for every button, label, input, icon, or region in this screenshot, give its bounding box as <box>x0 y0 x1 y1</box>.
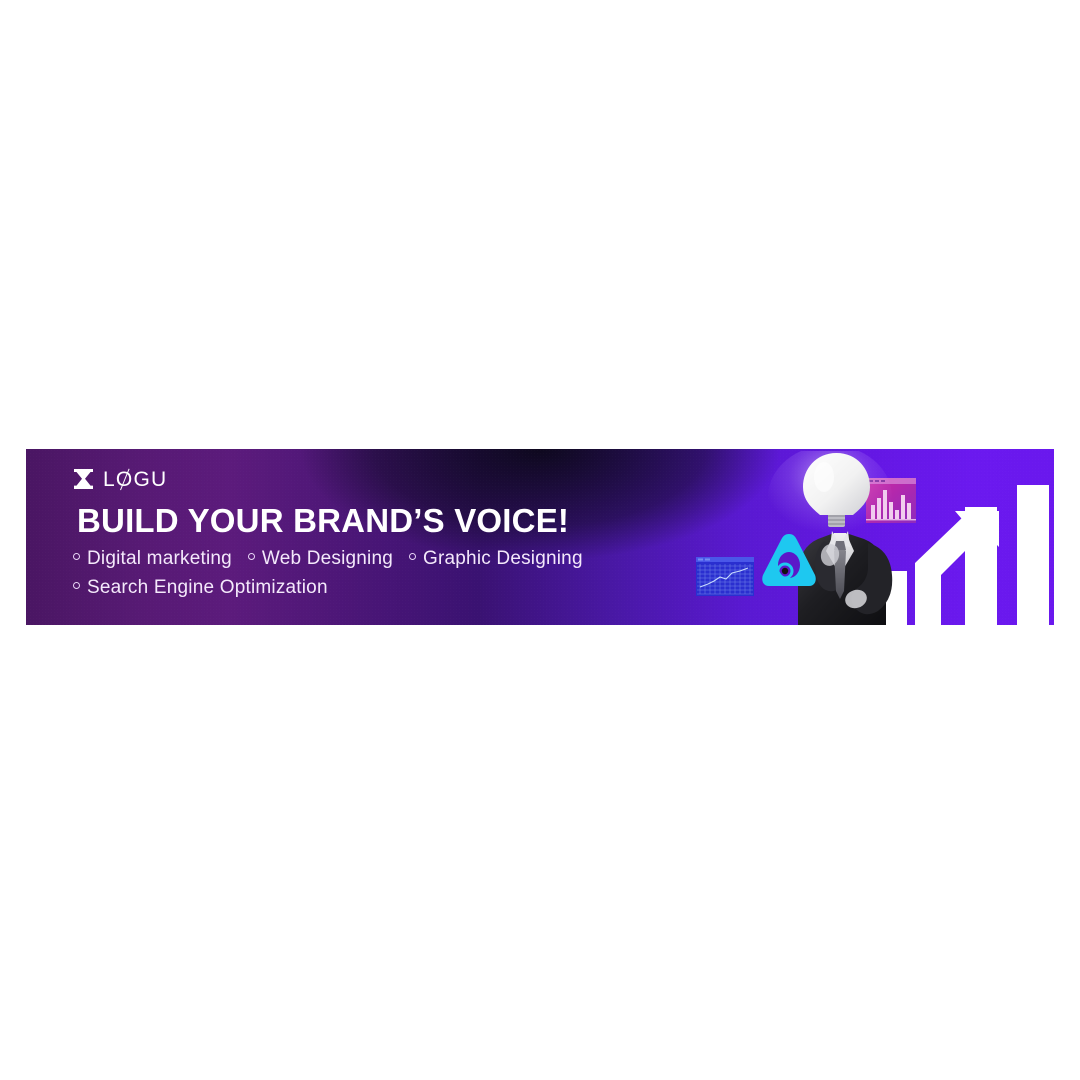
service-item-digital-marketing[interactable]: Digital marketing <box>73 545 232 573</box>
banner-graphics <box>684 449 1054 625</box>
bullet-icon <box>73 553 80 560</box>
brand-name: LOGU <box>103 469 167 490</box>
banner-copy: LOGU BUILD YOUR BRAND’S VOICE! Digital m… <box>73 467 713 604</box>
service-item-web-designing[interactable]: Web Designing <box>248 545 393 573</box>
bullet-icon <box>409 553 416 560</box>
bullet-icon <box>248 553 255 560</box>
services-row: Search Engine Optimization <box>73 574 713 602</box>
service-item-seo[interactable]: Search Engine Optimization <box>73 574 328 602</box>
promo-banner[interactable]: LOGU BUILD YOUR BRAND’S VOICE! Digital m… <box>26 449 1054 625</box>
bullet-icon <box>73 582 80 589</box>
brand-name-o: O <box>116 469 134 490</box>
hourglass-icon <box>73 469 94 489</box>
services-list: Digital marketing Web Designing Graphic … <box>73 545 713 602</box>
service-item-graphic-designing[interactable]: Graphic Designing <box>409 545 583 573</box>
services-row: Digital marketing Web Designing Graphic … <box>73 545 713 573</box>
service-label: Graphic Designing <box>423 545 583 573</box>
page-title: BUILD YOUR BRAND’S VOICE! <box>77 503 713 539</box>
cyan-triangle-logo-icon <box>758 531 820 593</box>
brand-name-part2: GU <box>133 468 167 491</box>
service-label: Search Engine Optimization <box>87 574 328 602</box>
service-label: Web Designing <box>262 545 393 573</box>
brand-name-part1: L <box>103 468 116 491</box>
page-root: LOGU BUILD YOUR BRAND’S VOICE! Digital m… <box>0 0 1080 1080</box>
service-label: Digital marketing <box>87 545 232 573</box>
brand-logo[interactable]: LOGU <box>73 467 713 491</box>
